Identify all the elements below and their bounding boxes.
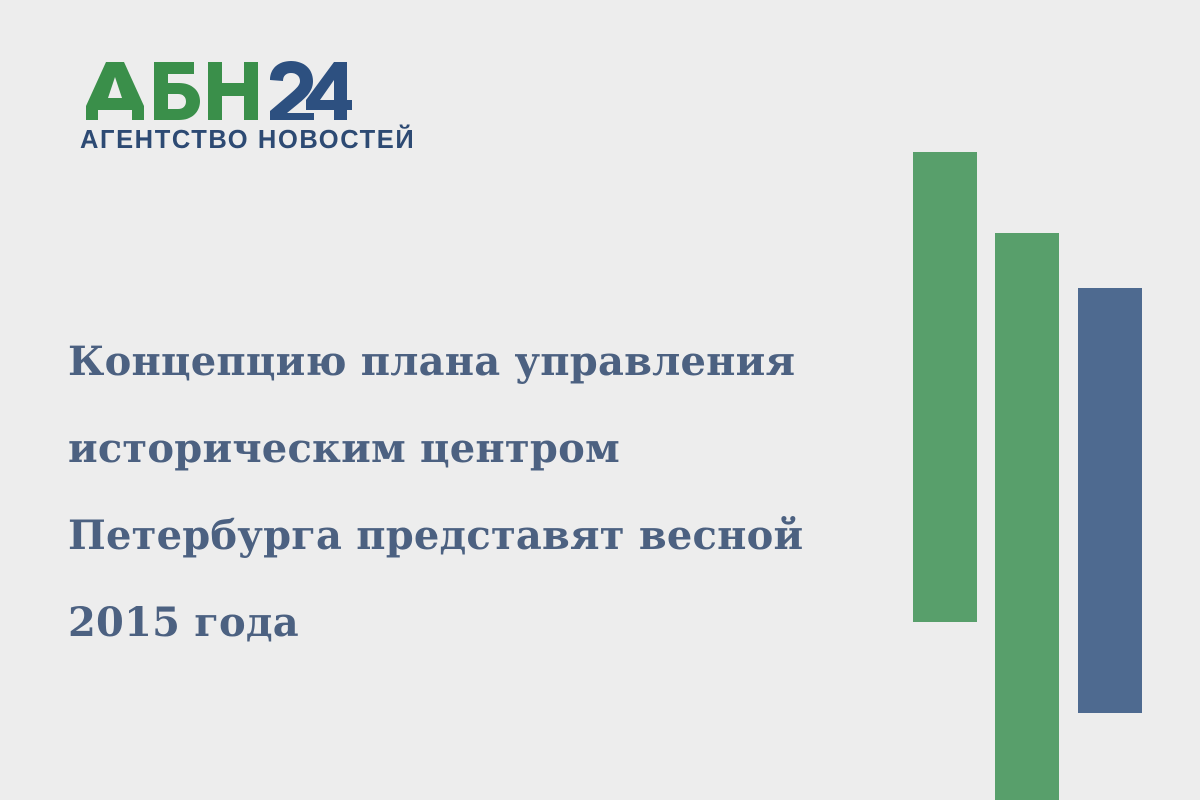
headline: Концепцию плана управления историческим … [68,318,868,666]
site-logo: АГЕНТСТВО НОВОСТЕЙ [80,60,370,160]
decorative-bar-1 [913,152,977,622]
decorative-bar-2 [995,233,1059,800]
news-card: АГЕНТСТВО НОВОСТЕЙ Концепцию плана управ… [0,0,1200,800]
abn24-wordmark-icon [80,60,352,122]
logo-tagline: АГЕНТСТВО НОВОСТЕЙ [80,128,370,154]
decorative-bar-3 [1078,288,1142,713]
